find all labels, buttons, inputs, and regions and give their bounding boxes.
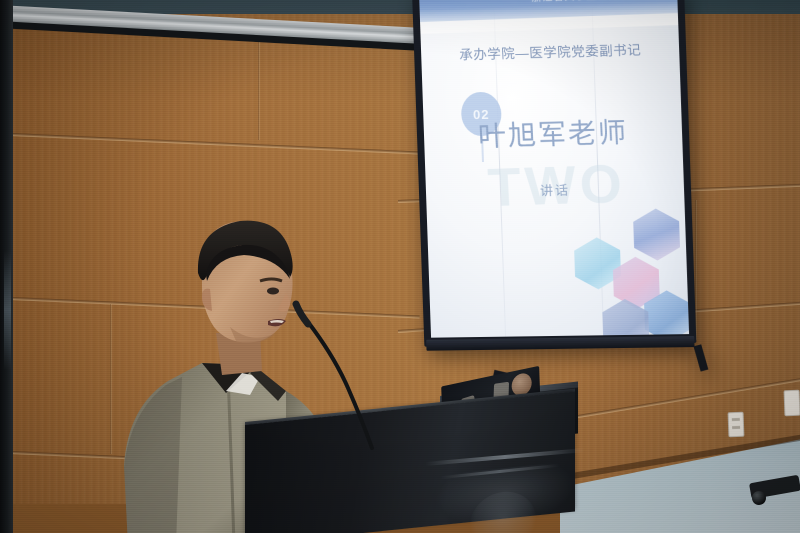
left-edge-highlight [4, 250, 11, 370]
slide-subtitle: 承办学院—医学院党委副书记 [459, 39, 642, 64]
photo-scene: 浙江省大学生课外学术科技作品竞赛 TWO 02 承办学院—医学院党委副书记 叶旭… [0, 0, 800, 533]
slide-speaker-name: 叶旭军老师 [477, 111, 629, 155]
caster-wheel-icon [752, 491, 766, 505]
mic-capsule [296, 304, 308, 324]
mic-gooseneck [308, 322, 372, 448]
hexagon-icon [633, 208, 681, 261]
slide-hexagon-decoration [570, 194, 689, 338]
power-outlet-icon [784, 390, 800, 417]
slide-surface: 浙江省大学生课外学术科技作品竞赛 TWO 02 承办学院—医学院党委副书记 叶旭… [419, 0, 689, 338]
slide-action-text: 讲话 [540, 180, 571, 200]
speaker-eye [267, 288, 279, 295]
projection-screen: 浙江省大学生课外学术科技作品竞赛 TWO 02 承办学院—医学院党委副书记 叶旭… [412, 0, 696, 347]
power-outlet-icon [728, 412, 745, 438]
jacket-shadow [124, 377, 182, 533]
microphone [250, 300, 390, 450]
